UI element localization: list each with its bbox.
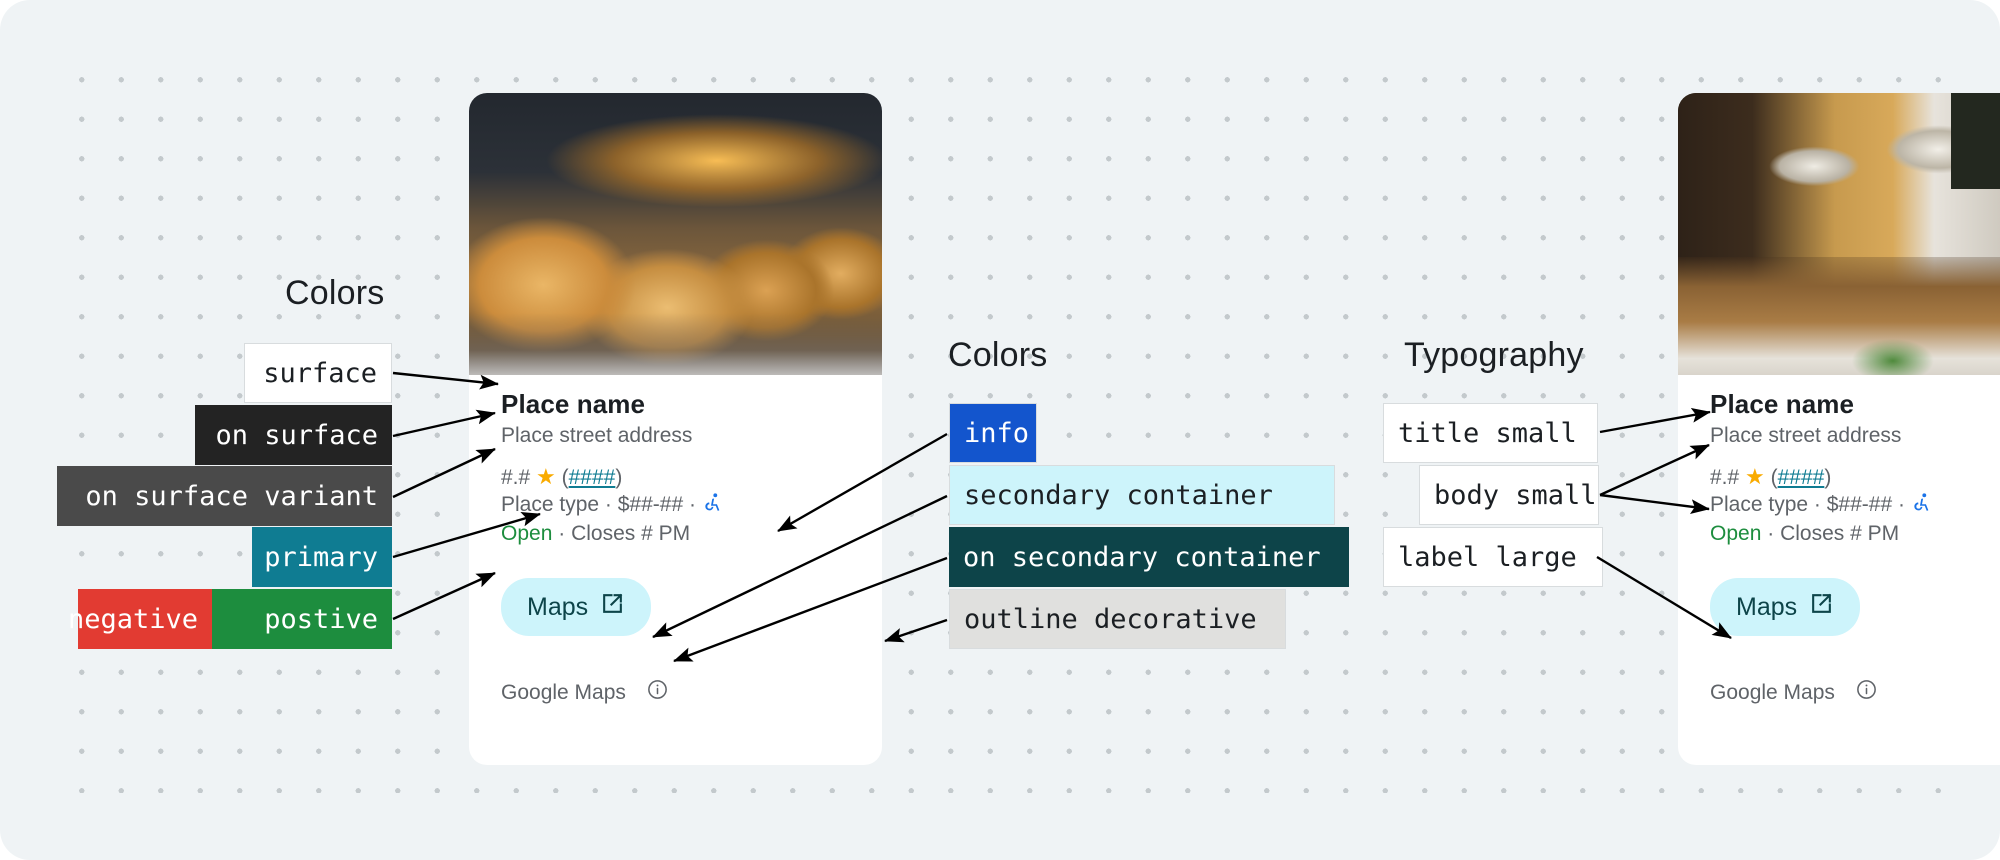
rating-value: #.# [1710,466,1739,489]
color-token-label: negative [68,606,198,633]
wheelchair-accessible-icon [1911,492,1933,520]
place-card-right[interactable]: Place name Place street address #.# ★ (#… [1678,93,2000,765]
place-type: Place type [1710,493,1808,516]
review-close-paren: ) [1824,466,1831,489]
place-meta-row: Place type · $##-## · [1710,492,2000,520]
section-title-colors-left: Colors [285,274,384,313]
star-icon: ★ [536,464,556,489]
price-range: $##-## [1827,493,1892,516]
color-token-outline-decorative[interactable]: outline decorative [949,589,1286,649]
maps-button-label: Maps [1736,593,1797,622]
color-token-secondary-container[interactable]: secondary container [949,465,1335,525]
closing-time: Closes # PM [1780,522,1899,545]
rating-value: #.# [501,466,530,489]
place-photo-bakery [469,93,882,375]
color-token-negative[interactable]: negative [78,589,212,649]
section-title-typography: Typography [1404,336,1584,375]
color-token-label: surface [263,360,377,387]
place-card-footer: Google Maps [1710,678,2000,707]
review-count-link[interactable]: #### [1778,466,1825,489]
color-token-on-surface-variant[interactable]: on surface variant [57,466,392,526]
maps-button[interactable]: Maps [1710,578,1860,636]
type-token-label-large[interactable]: label large [1383,527,1603,587]
color-token-surface[interactable]: surface [244,343,392,403]
maps-button-label: Maps [527,593,588,622]
open-status: Open [1710,522,1761,545]
type-token-body-small[interactable]: body small [1419,465,1599,525]
color-token-label: primary [264,544,378,571]
place-meta-row: Place type · $##-## · [501,492,850,520]
color-token-label: info [964,420,1029,447]
color-token-label: on surface variant [85,483,378,510]
maps-button[interactable]: Maps [501,578,651,636]
color-token-label: on surface [215,422,378,449]
place-card-left[interactable]: Place name Place street address #.# ★ (#… [469,93,882,765]
open-status: Open [501,522,552,545]
review-open-paren: ( [1771,466,1778,489]
place-street-address: Place street address [1710,424,2000,448]
color-token-label: outline decorative [964,606,1257,633]
closing-time: Closes # PM [571,522,690,545]
type-token-label: body small [1434,482,1597,509]
place-name: Place name [1710,389,2000,420]
meta-separator-2: · [689,493,696,516]
type-token-title-small[interactable]: title small [1383,403,1598,463]
type-token-label: title small [1398,420,1577,447]
review-close-paren: ) [615,466,622,489]
star-icon: ★ [1745,464,1765,489]
info-circle-icon[interactable] [646,678,669,707]
color-token-label: postive [264,606,378,633]
place-hours-row: Open · Closes # PM [501,522,850,546]
place-card-body: Place name Place street address #.# ★ (#… [1678,375,2000,707]
color-token-on-secondary-container[interactable]: on secondary container [949,527,1349,587]
place-type: Place type [501,493,599,516]
color-token-primary[interactable]: primary [252,527,392,587]
info-circle-icon[interactable] [1855,678,1878,707]
review-count-link[interactable]: #### [569,466,616,489]
hours-separator: · [558,522,565,545]
meta-separator-1: · [605,493,612,516]
attribution-label: Google Maps [1710,681,1835,705]
attribution-label: Google Maps [501,681,626,705]
review-open-paren: ( [562,466,569,489]
color-token-positive[interactable]: postive [212,589,392,649]
rating-row: #.# ★ (####) [1710,464,2000,490]
place-photo-cafe [1678,93,2000,375]
hours-separator: · [1767,522,1774,545]
type-token-label: label large [1398,544,1577,571]
wheelchair-accessible-icon [702,492,724,520]
place-hours-row: Open · Closes # PM [1710,522,2000,546]
open-in-new-icon [600,591,625,623]
canvas-stage: Colors Colors Typography surface on surf… [0,0,2000,860]
color-token-info[interactable]: info [949,403,1037,463]
color-token-label: on secondary container [963,544,1321,571]
color-token-on-surface[interactable]: on surface [195,405,392,465]
section-title-colors-mid: Colors [948,336,1047,375]
meta-separator-2: · [1898,493,1905,516]
place-card-footer: Google Maps [501,678,850,707]
place-card-body: Place name Place street address #.# ★ (#… [469,375,882,707]
place-name: Place name [501,389,850,420]
place-street-address: Place street address [501,424,850,448]
color-token-label: secondary container [964,482,1273,509]
price-range: $##-## [618,493,683,516]
open-in-new-icon [1809,591,1834,623]
arrow-outline-to-card-surface [885,620,947,641]
rating-row: #.# ★ (####) [501,464,850,490]
meta-separator-1: · [1814,493,1821,516]
